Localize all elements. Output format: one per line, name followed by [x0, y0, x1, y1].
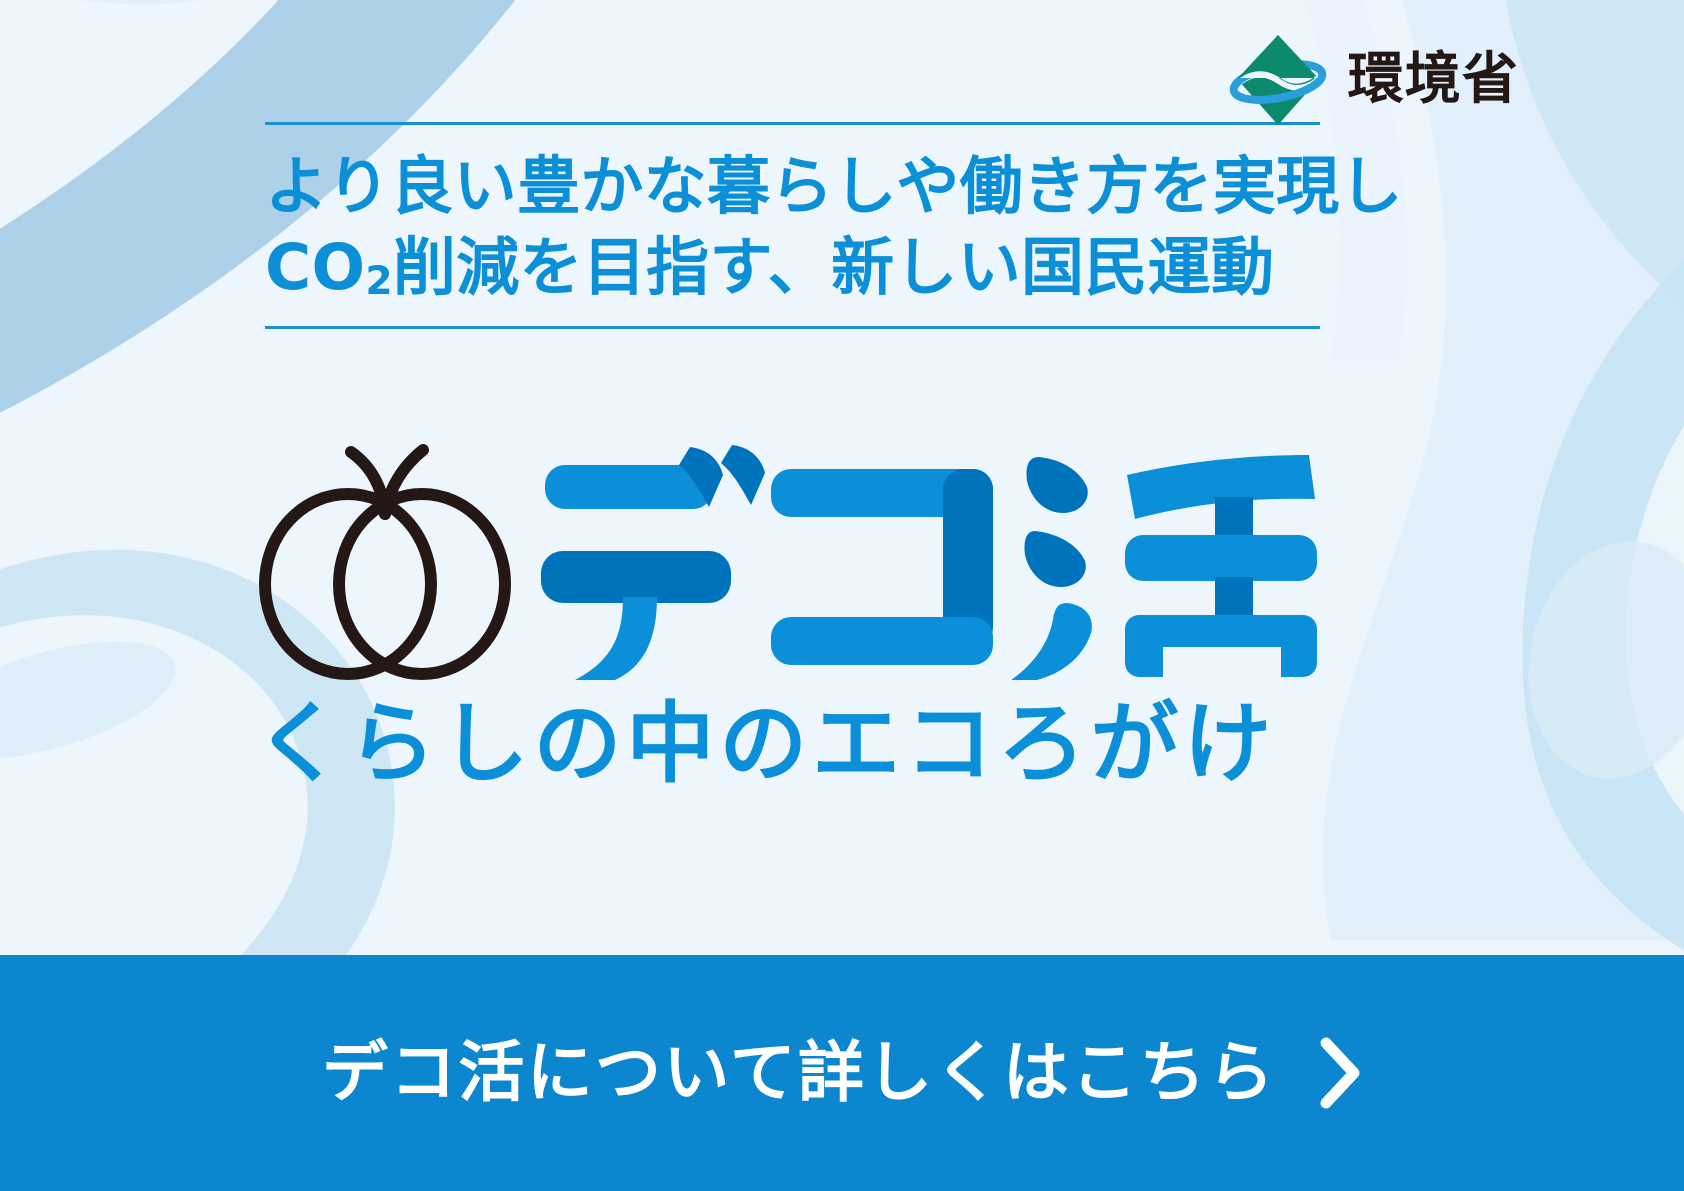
ribbon-right-highlight: [1507, 524, 1684, 796]
ribbon-right-mid: [1522, 140, 1684, 1000]
ministry-name-label: 環境省: [1348, 52, 1519, 108]
ministry-of-environment-mark-icon: [1226, 28, 1330, 132]
headline-lines: より良い豊かな暮らしや働き方を実現し CO2削減を目指す、新しい国民運動: [265, 125, 1320, 326]
logo-row: [255, 420, 1330, 680]
headline-divider-bottom: [265, 326, 1320, 329]
deco-katsu-logo-lockup: くらしの中のエコろがけ: [255, 420, 1330, 790]
headline-block: より良い豊かな暮らしや働き方を実現し CO2削減を目指す、新しい国民運動: [265, 122, 1320, 329]
headline-line-2-rest: 削減を目指す、新しい国民運動: [393, 231, 1274, 304]
tagline-wrap: くらしの中のエコろがけ: [255, 698, 1330, 790]
headline-co2-subscript: 2: [365, 259, 392, 304]
ribbon-right-mid-inner: [1626, 260, 1684, 910]
cta-label: デコ活について詳しくはこちら: [322, 1040, 1276, 1106]
ribbon-left-highlight: [0, 618, 188, 782]
headline-line-2: CO2削減を目指す、新しい国民運動: [265, 228, 1320, 309]
chevron-right-icon: [1318, 1037, 1362, 1109]
cta-inner: デコ活について詳しくはこちら: [322, 1037, 1362, 1109]
headline-line-1: より良い豊かな暮らしや働き方を実現し: [265, 147, 1320, 228]
two-overlapping-leaves-cherry-icon: [255, 432, 513, 680]
ministry-logo: 環境省: [1226, 28, 1519, 132]
ribbon-upper-left-wedge: [0, 0, 300, 4]
tagline-label: くらしの中のエコろがけ: [255, 698, 1330, 790]
headline-co-text: CO: [265, 231, 365, 304]
deco-katsu-wordmark: [539, 435, 1321, 680]
cta-bar[interactable]: デコ活について詳しくはこちら: [0, 955, 1684, 1191]
ribbon-right-top: [1500, 0, 1684, 420]
deco-katsu-banner: 環境省 より良い豊かな暮らしや働き方を実現し CO2削減を目指す、新しい国民運動: [0, 0, 1684, 1191]
ribbon-right-panel: [1323, 0, 1684, 940]
